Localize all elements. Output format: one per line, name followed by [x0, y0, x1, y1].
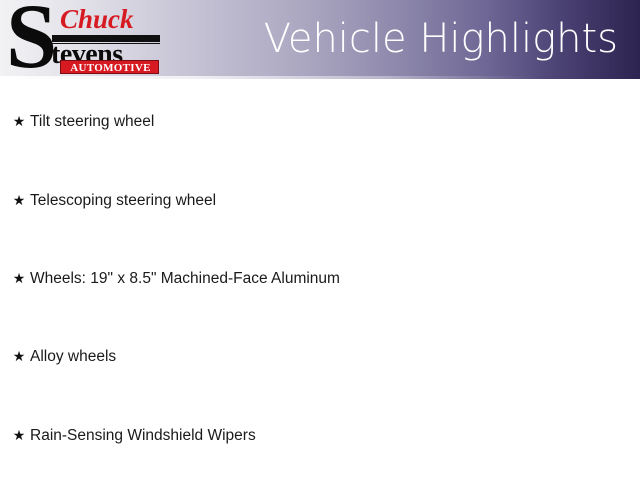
list-item-label: Wheels: 19" x 8.5" Machined-Face Aluminu… [30, 266, 340, 292]
logo-brand-first: Chuck [60, 6, 134, 33]
list-item-label: Rain-Sensing Windshield Wipers [30, 423, 256, 449]
list-item-label: Telescoping steering wheel [30, 188, 216, 214]
list-item-label: Tilt steering wheel [30, 109, 154, 135]
page-header: S Chuck tevens AUTOMOTIVE Vehicle Highli… [0, 0, 640, 79]
list-item: ★ Alloy wheels [0, 344, 640, 370]
vehicle-highlights-list: ★ Tilt steering wheel ★ Telescoping stee… [0, 79, 640, 480]
star-icon: ★ [8, 266, 30, 292]
star-icon: ★ [8, 188, 30, 214]
page-title: Vehicle Highlights [264, 13, 618, 65]
logo-tagline-banner: AUTOMOTIVE [60, 60, 159, 74]
list-item: ★ Tilt steering wheel [0, 109, 640, 135]
logo-tagline-text: AUTOMOTIVE [61, 61, 160, 75]
list-item: ★ Rain-Sensing Windshield Wipers [0, 423, 640, 449]
dealer-logo: S Chuck tevens AUTOMOTIVE [4, 2, 164, 78]
star-icon: ★ [8, 423, 30, 449]
list-item: ★ Telescoping steering wheel [0, 188, 640, 214]
logo-monogram-icon: S [6, 0, 55, 79]
star-icon: ★ [8, 109, 30, 135]
list-item-label: Alloy wheels [30, 344, 116, 370]
list-item: ★ Wheels: 19" x 8.5" Machined-Face Alumi… [0, 266, 640, 292]
star-icon: ★ [8, 344, 30, 370]
